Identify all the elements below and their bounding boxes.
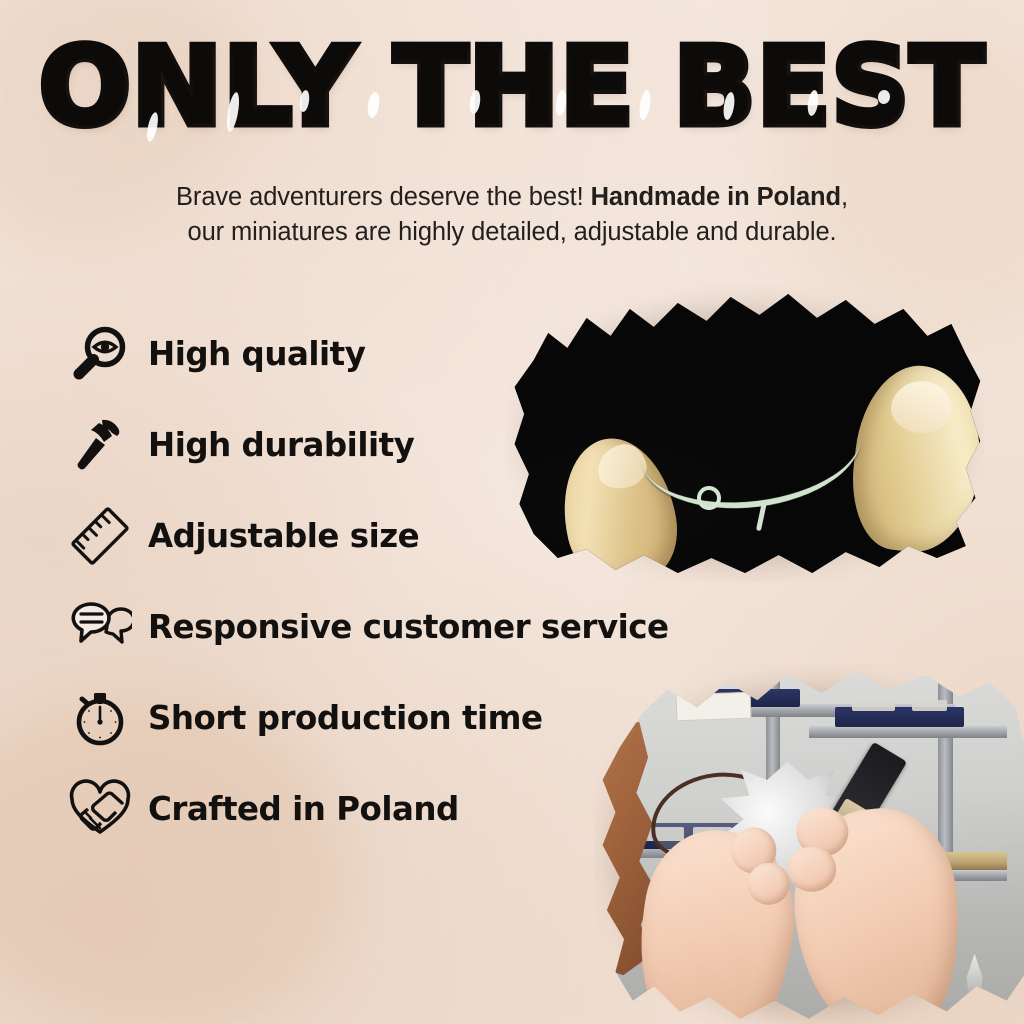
feature-label: High quality xyxy=(148,335,365,373)
finger-left xyxy=(548,427,688,582)
unpainted-miniature xyxy=(960,954,990,1005)
hammer-icon xyxy=(62,410,138,480)
page-title: ONLY THE BEST xyxy=(0,34,1024,142)
stopwatch-icon xyxy=(62,683,138,753)
finger-right-thumb xyxy=(845,359,985,559)
resin-miniature-part xyxy=(641,434,867,520)
ruler-icon xyxy=(62,501,138,571)
subtitle: Brave adventurers deserve the best! Hand… xyxy=(60,180,964,249)
feature-label: Short production time xyxy=(148,699,543,737)
subtitle-line2: our miniatures are highly detailed, adju… xyxy=(187,218,836,246)
feature-label: Crafted in Poland xyxy=(148,790,459,828)
heart-handshake-icon xyxy=(62,774,138,844)
workshop-photo-torn-edge xyxy=(594,664,1024,1024)
subtitle-line1: Brave adventurers deserve the best! Hand… xyxy=(176,183,848,211)
durability-photo xyxy=(505,282,985,582)
speech-bubbles-icon xyxy=(62,592,138,662)
feature-label: High durability xyxy=(148,426,414,464)
feature-label: Responsive customer service xyxy=(148,608,669,646)
promo-poster: ONLY THE BEST Brave adventurers deserve … xyxy=(0,0,1024,1024)
workshop-photo xyxy=(594,664,1024,1024)
shelf-label-tag xyxy=(675,692,751,722)
feature-row-responsive-customer-service: Responsive customer service xyxy=(62,581,762,672)
feature-label: Adjustable size xyxy=(148,517,419,555)
durability-photo-torn-edge xyxy=(505,282,985,582)
magnifier-eye-icon xyxy=(62,319,138,389)
